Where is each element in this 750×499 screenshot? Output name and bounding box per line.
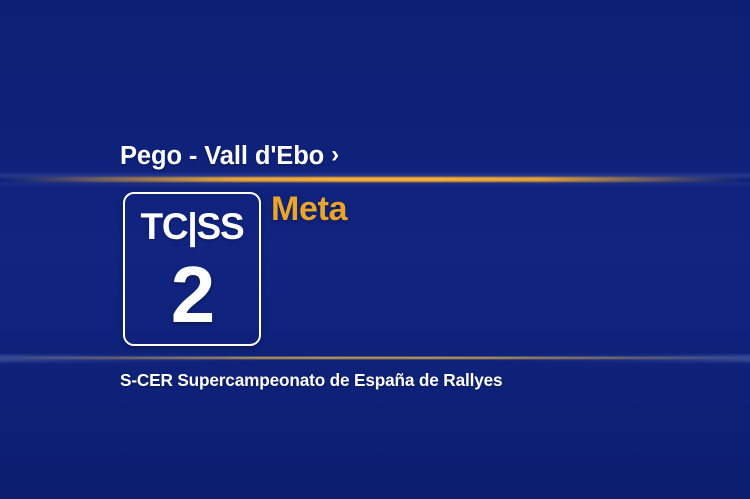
timecontrol-badge: TC|SS 2: [123, 192, 261, 346]
rally-broadcast-overlay: Pego - Vall d'Ebo › TC|SS 2 Meta S-CER S…: [0, 0, 750, 499]
timecontrol-badge-number: 2: [171, 255, 214, 335]
background-field: [0, 0, 750, 499]
series-caption: S-CER Supercampeonato de España de Rally…: [120, 370, 502, 391]
stage-title: Pego - Vall d'Ebo ›: [120, 137, 339, 175]
chevron-right-icon: ›: [331, 143, 339, 167]
timecontrol-badge-code: TC|SS: [140, 208, 243, 245]
meta-label: Meta: [271, 192, 347, 226]
stage-title-text: Pego - Vall d'Ebo: [120, 142, 324, 171]
